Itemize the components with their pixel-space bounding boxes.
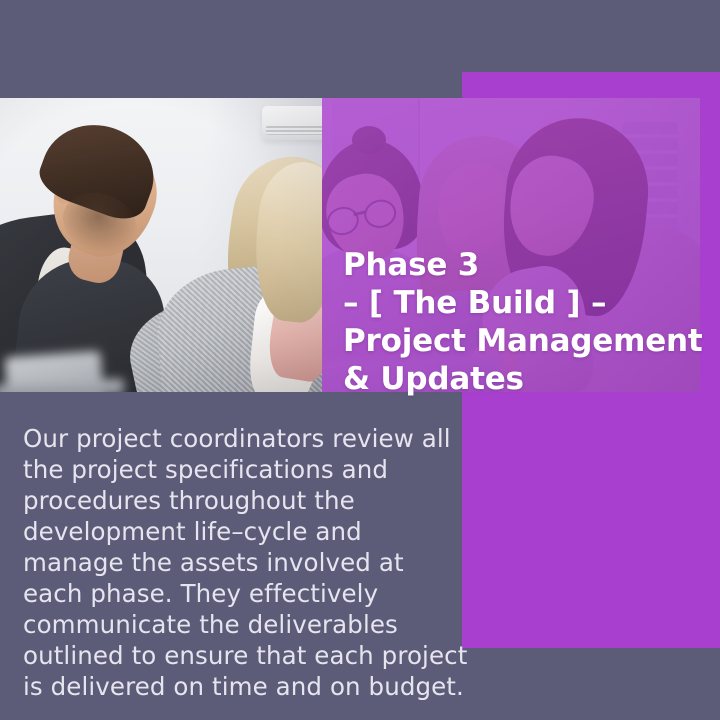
- left-photo-vignette: [0, 98, 322, 392]
- left-photo: [0, 98, 322, 392]
- slide-heading: Phase 3 – [ The Build ] – Project Manage…: [343, 246, 713, 398]
- slide-canvas: Phase 3 – [ The Build ] – Project Manage…: [0, 0, 720, 720]
- slide-body-text: Our project coordinators review all the …: [23, 423, 468, 702]
- left-photo-canvas: [0, 98, 322, 392]
